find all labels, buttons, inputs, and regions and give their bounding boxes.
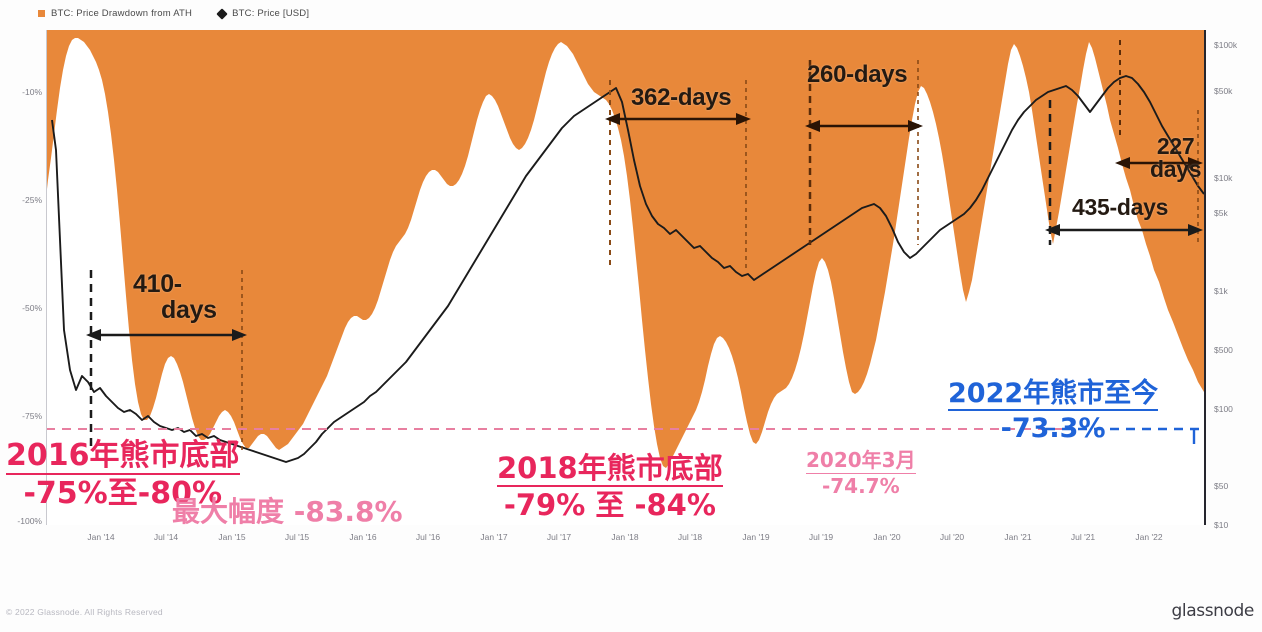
xtick-13: Jul '20 <box>940 532 964 542</box>
copyright-text: © 2022 Glassnode. All Rights Reserved <box>6 607 163 617</box>
legend-item-price[interactable]: BTC: Price [USD] <box>218 8 309 19</box>
xtick-0: Jan '14 <box>87 532 114 542</box>
annotation-bear-2022: 2022年熊市至今 -73.3% <box>948 379 1158 443</box>
glassnode-logo: glassnode <box>1172 601 1254 621</box>
annotation-march-2020: 2020年3月 -74.7% <box>806 450 916 497</box>
annotation-227-days-line1: 227 <box>1150 135 1201 158</box>
xtick-8: Jan '18 <box>611 532 638 542</box>
ytick-right-3: $5k <box>1214 208 1228 218</box>
xtick-1: Jul '14 <box>154 532 178 542</box>
annotation-260-days-line1: 260-days <box>807 63 907 87</box>
xtick-12: Jan '20 <box>873 532 900 542</box>
ytick-right-5: $500 <box>1214 345 1233 355</box>
xtick-15: Jul '21 <box>1071 532 1095 542</box>
annotation-362-days: 362-days <box>631 86 731 110</box>
annotation-max-drawdown-title: 最大幅度 -83.8% <box>172 497 403 527</box>
annotation-410-days-line2: days <box>161 298 217 324</box>
chart-legend: BTC: Price Drawdown from ATH BTC: Price … <box>38 8 309 19</box>
ytick-left-2: -50% <box>2 303 42 313</box>
annotation-410-days-line1: 410- <box>133 272 217 298</box>
annotation-410-days: 410- days <box>133 272 217 323</box>
annotation-march-2020-value: -74.7% <box>806 476 916 498</box>
ytick-right-2: $10k <box>1214 173 1232 183</box>
xtick-4: Jan '16 <box>349 532 376 542</box>
ytick-left-3: -75% <box>2 411 42 421</box>
annotation-bear-2018: 2018年熊市底部 -79% 至 -84% <box>497 453 723 522</box>
annotation-bear-2022-value: -73.3% <box>948 414 1158 443</box>
annotation-435-days-line1: 435-days <box>1072 196 1168 219</box>
legend-label-drawdown: BTC: Price Drawdown from ATH <box>51 8 192 19</box>
square-swatch-icon <box>38 10 45 17</box>
legend-item-drawdown[interactable]: BTC: Price Drawdown from ATH <box>38 8 192 19</box>
xtick-9: Jul '18 <box>678 532 702 542</box>
annotation-bear-2016-title: 2016年熊市底部 <box>6 440 240 475</box>
xtick-2: Jan '15 <box>218 532 245 542</box>
xtick-7: Jul '17 <box>547 532 571 542</box>
ytick-left-0: -10% <box>2 87 42 97</box>
annotation-bear-2018-value: -79% 至 -84% <box>497 490 723 521</box>
ytick-left-1: -25% <box>2 195 42 205</box>
annotation-362-days-line1: 362-days <box>631 86 731 110</box>
ytick-right-7: $50 <box>1214 481 1228 491</box>
xtick-14: Jan '21 <box>1004 532 1031 542</box>
xtick-3: Jul '15 <box>285 532 309 542</box>
ytick-right-4: $1k <box>1214 286 1228 296</box>
xtick-5: Jul '16 <box>416 532 440 542</box>
ytick-left-4: -100% <box>2 516 42 526</box>
xtick-16: Jan '22 <box>1135 532 1162 542</box>
annotation-260-days: 260-days <box>807 63 907 87</box>
y-axis-right <box>1204 30 1206 525</box>
ytick-right-6: $100 <box>1214 404 1233 414</box>
xtick-11: Jul '19 <box>809 532 833 542</box>
annotation-227-days: 227 days <box>1150 135 1201 182</box>
diamond-marker-icon <box>216 8 227 19</box>
annotation-227-days-line2: days <box>1150 158 1201 181</box>
chart-page: BTC: Price Drawdown from ATH BTC: Price … <box>0 0 1262 632</box>
annotation-bear-2018-title: 2018年熊市底部 <box>497 453 723 487</box>
annotation-max-drawdown: 最大幅度 -83.8% <box>172 497 403 527</box>
ytick-right-1: $50k <box>1214 86 1232 96</box>
annotation-march-2020-title: 2020年3月 <box>806 450 916 474</box>
xtick-6: Jan '17 <box>480 532 507 542</box>
annotation-bear-2022-title: 2022年熊市至今 <box>948 379 1158 411</box>
ytick-right-0: $100k <box>1214 40 1237 50</box>
legend-label-price: BTC: Price [USD] <box>232 8 309 19</box>
annotation-435-days: 435-days <box>1072 196 1168 219</box>
ytick-right-8: $10 <box>1214 520 1228 530</box>
xtick-10: Jan '19 <box>742 532 769 542</box>
